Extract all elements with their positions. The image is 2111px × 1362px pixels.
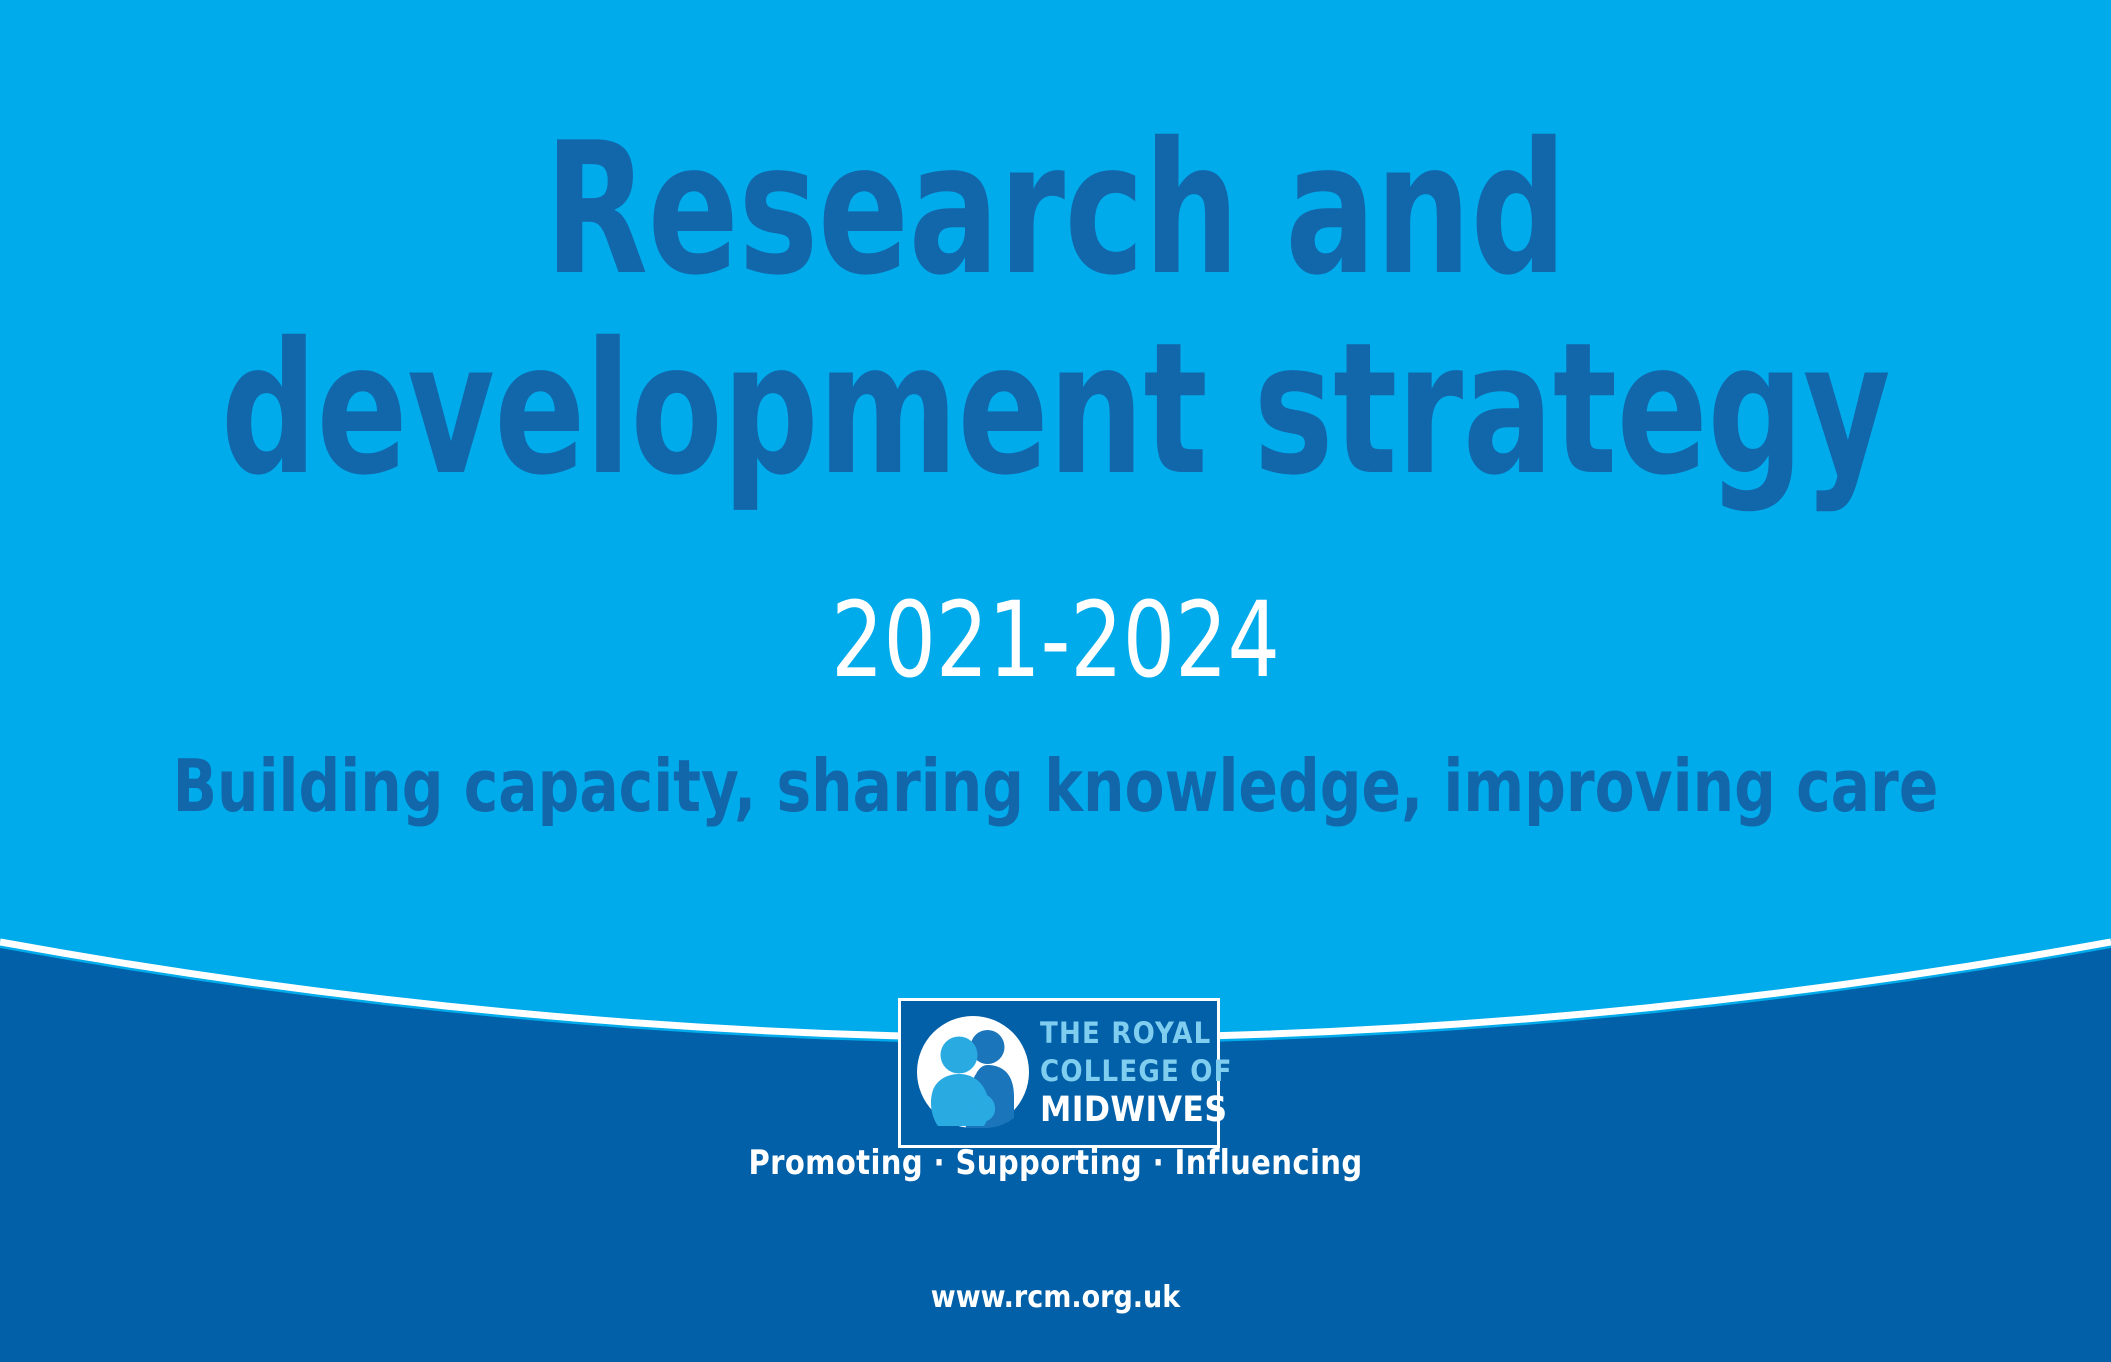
page-title-line-2: development strategy: [190, 318, 1921, 500]
logo-wordmark-line-3: MIDWIVES: [1040, 1090, 1212, 1130]
mother-and-baby-emblem: [914, 1012, 1032, 1132]
logo-wordmark: THE ROYAL COLLEGE OF MIDWIVES: [1040, 1014, 1212, 1132]
date-range: 2021-2024: [127, 588, 1985, 692]
report-cover: Research and development strategy 2021-2…: [0, 0, 2111, 1362]
logo-wordmark-line-1: THE ROYAL: [1040, 1014, 1212, 1052]
organisation-tagline: Promoting · Supporting · Influencing: [53, 1143, 2058, 1183]
website-url[interactable]: www.rcm.org.uk: [0, 1280, 2111, 1315]
page-title-line-1: Research and: [190, 118, 1921, 300]
rcm-logo: THE ROYAL COLLEGE OF MIDWIVES: [898, 998, 1220, 1148]
strapline: Building capacity, sharing knowledge, im…: [106, 750, 2006, 822]
logo-wordmark-line-2: COLLEGE OF: [1040, 1052, 1212, 1090]
